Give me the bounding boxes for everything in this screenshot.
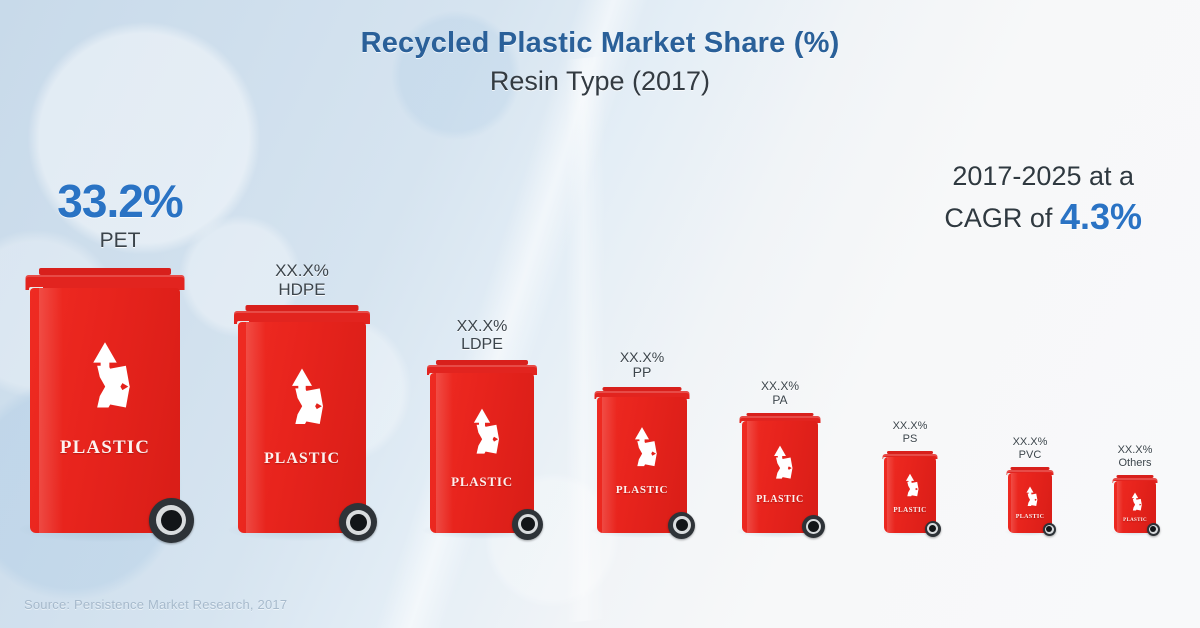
bin-name: LDPE <box>457 336 508 354</box>
recycle-icon <box>265 364 339 438</box>
bin-wheel <box>339 503 377 541</box>
bin-value: XX.X% <box>275 261 329 280</box>
bin-caption: PLASTIC <box>1114 518 1156 523</box>
bin-wheel-rim <box>927 523 938 534</box>
recycling-bin-icon: PLASTIC <box>430 360 534 533</box>
bin-wheel <box>1043 523 1056 536</box>
recycling-bin-icon: PLASTIC <box>238 305 366 533</box>
bin-group-others: XX.X%OthersPLASTIC <box>1114 475 1156 533</box>
bin-group-ldpe: XX.X%LDPEPLASTIC <box>430 360 534 533</box>
bin-group-hdpe: XX.X%HDPEPLASTIC <box>238 305 366 533</box>
recycle-icon <box>895 472 925 502</box>
recycle-icon <box>616 424 668 476</box>
bin-caption: PLASTIC <box>238 450 366 468</box>
bin-label-others: XX.X%Others <box>1118 444 1153 469</box>
bin-lid-top <box>39 268 171 275</box>
bin-name: PA <box>761 394 799 407</box>
bin-name: PS <box>893 433 928 445</box>
bin-wheel-rim <box>346 510 371 535</box>
recycle-icon <box>452 405 512 465</box>
bin-label-pa: XX.X%PA <box>761 380 799 407</box>
bin-wheel <box>149 498 194 543</box>
bin-wheel <box>925 521 941 537</box>
bin-group-pp: XX.X%PPPLASTIC <box>597 387 687 533</box>
bin-wheel <box>802 515 825 538</box>
bin-wheel <box>1147 523 1160 536</box>
bin-wheel-hub <box>350 514 367 531</box>
recycling-bin-icon: PLASTIC <box>30 268 180 533</box>
bin-value: XX.X% <box>761 380 799 393</box>
recycling-bin-icon: PLASTIC <box>597 387 687 533</box>
recycling-bin-icon: PLASTIC <box>1008 467 1052 533</box>
bin-wheel-rim <box>518 514 538 534</box>
bin-group-pet: PLASTIC <box>30 268 180 533</box>
bin-caption: PLASTIC <box>742 494 818 505</box>
bin-value: XX.X% <box>893 420 928 432</box>
bin-label-hdpe: XX.X%HDPE <box>275 261 329 299</box>
bin-wheel-rim <box>673 516 691 534</box>
bin-name: PVC <box>1013 449 1048 461</box>
bin-wheel-hub <box>808 521 819 532</box>
bin-value: XX.X% <box>1013 436 1048 448</box>
bin-wheel <box>512 509 543 540</box>
bin-value: XX.X% <box>457 318 508 336</box>
bin-wheel-rim <box>1045 525 1054 534</box>
bin-name: Others <box>1118 457 1153 469</box>
bin-wheel-hub <box>676 519 688 531</box>
recycling-bin-icon: PLASTIC <box>742 413 818 533</box>
recycle-icon <box>1017 485 1043 511</box>
bin-name: PP <box>620 365 664 381</box>
bin-caption: PLASTIC <box>1008 514 1052 520</box>
bin-wheel-rim <box>806 519 821 534</box>
bin-wheel-hub <box>929 525 936 532</box>
bin-value: XX.X% <box>1118 444 1153 456</box>
source-note: Source: Persistence Market Research, 201… <box>24 597 287 612</box>
recycle-icon <box>62 337 149 424</box>
bin-caption: PLASTIC <box>884 506 936 514</box>
bin-caption: PLASTIC <box>430 474 534 490</box>
bin-caption: PLASTIC <box>597 484 687 496</box>
bin-name: HDPE <box>275 280 329 299</box>
bin-wheel-hub <box>521 517 535 531</box>
bin-label-ldpe: XX.X%LDPE <box>457 318 508 354</box>
recycling-bin-icon: PLASTIC <box>884 451 936 533</box>
bin-wheel-hub <box>1150 526 1156 532</box>
bin-value: XX.X% <box>620 350 664 366</box>
bin-wheel <box>668 512 695 539</box>
bin-group-pvc: XX.X%PVCPLASTIC <box>1008 467 1052 533</box>
bin-wheel-rim <box>1149 525 1158 534</box>
bin-body: PLASTIC <box>597 397 687 533</box>
recycle-icon <box>1123 491 1147 515</box>
bin-label-ps: XX.X%PS <box>893 420 928 445</box>
infographic-canvas: Recycled Plastic Market Share (%) Resin … <box>0 0 1200 628</box>
bin-body: PLASTIC <box>238 322 366 533</box>
bin-label-pp: XX.X%PP <box>620 350 664 381</box>
bin-body: PLASTIC <box>430 373 534 533</box>
bin-wheel-hub <box>161 510 182 531</box>
recycle-icon <box>758 443 802 487</box>
recycling-bin-icon: PLASTIC <box>1114 475 1156 533</box>
bin-body: PLASTIC <box>30 288 180 533</box>
bin-group-pa: XX.X%PAPLASTIC <box>742 413 818 533</box>
bin-group-ps: XX.X%PSPLASTIC <box>884 451 936 533</box>
bin-wheel-hub <box>1046 526 1052 532</box>
bin-label-pvc: XX.X%PVC <box>1013 436 1048 461</box>
bin-caption: PLASTIC <box>30 437 180 459</box>
bin-chart: PLASTICXX.X%HDPEPLASTICXX.X%LDPEPLASTICX… <box>0 0 1200 628</box>
bin-wheel-rim <box>156 505 186 535</box>
